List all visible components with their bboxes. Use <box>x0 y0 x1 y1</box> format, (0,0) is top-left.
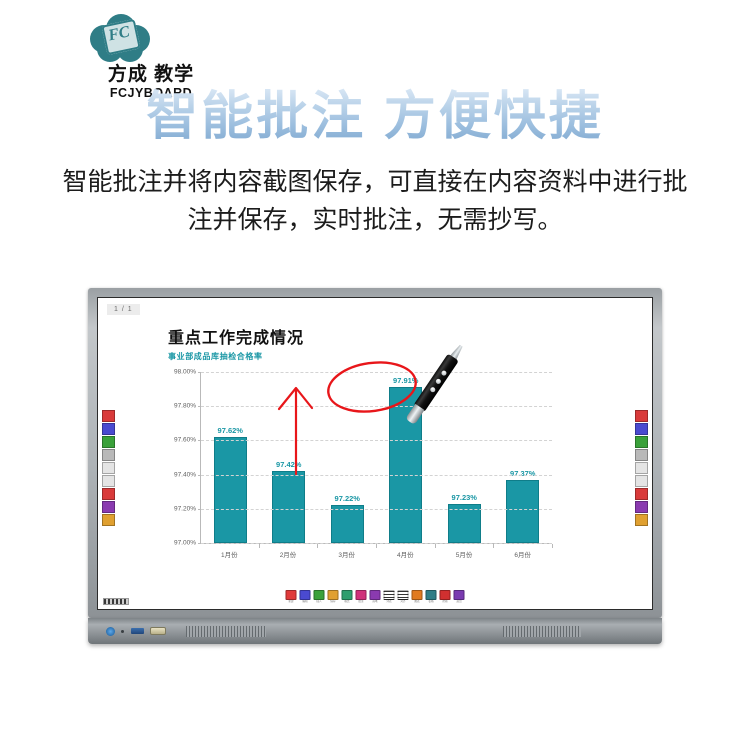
toolbar-button-label: 画笔 <box>370 600 381 604</box>
toolbar-button-label: 表格 <box>426 600 437 604</box>
edit-icon <box>300 590 311 600</box>
power-button-icon[interactable] <box>106 627 115 636</box>
chart-title: 重点工作完成情况 <box>168 324 576 348</box>
chart-x-tickmark <box>376 544 377 548</box>
toolbar-help-button[interactable]: 帮助 <box>440 590 451 604</box>
chart-x-tick-label: 5月份 <box>435 544 494 559</box>
toolbar-button-label: 插入 <box>314 600 325 604</box>
toolbar-button-label: 批注 <box>356 600 367 604</box>
right-tool-rail[interactable] <box>635 410 648 526</box>
pen-tool-icon[interactable] <box>102 410 115 422</box>
interactive-whiteboard: 1 / 1 重点工作完成情况 事业部成品库抽检合格率 97.62%97.42%9… <box>88 288 662 618</box>
toolbar-button-label: 新建 <box>286 600 297 604</box>
chart-x-tickmark <box>493 544 494 548</box>
chart-subtitle: 事业部成品库抽检合格率 <box>168 351 576 362</box>
chart-gridline <box>201 475 552 476</box>
usb-port-icon <box>131 628 144 634</box>
annotate-icon <box>356 590 367 600</box>
new-page-icon <box>286 590 297 600</box>
shapes-tool-icon[interactable] <box>635 501 648 513</box>
chart-bar-value-label: 97.23% <box>452 493 477 502</box>
shapes-tool-icon[interactable] <box>102 501 115 513</box>
chart-bar-group: 97.37% <box>498 372 547 543</box>
chart-y-tick-label: 97.40% <box>174 471 196 478</box>
chart-gridline <box>201 440 552 441</box>
flower-logo-icon: FC <box>90 14 152 62</box>
toolbar-button-label: 保存 <box>328 600 339 604</box>
chart-x-tick-label: 3月份 <box>317 544 376 559</box>
chart-x-tick-label: 2月份 <box>259 544 318 559</box>
pen-tool-icon[interactable] <box>635 410 648 422</box>
chart-bar <box>214 437 247 543</box>
highlighter-tool-icon[interactable] <box>102 423 115 435</box>
redo-tool-icon[interactable] <box>102 475 115 487</box>
toolbar-button-label: 格式 <box>342 600 353 604</box>
logo-mark-text: FC <box>107 23 132 45</box>
chart-x-tickmark <box>552 544 553 548</box>
redo-tool-icon[interactable] <box>635 475 648 487</box>
toolbar-annotate-button[interactable]: 批注 <box>356 590 367 604</box>
save-icon <box>328 590 339 600</box>
chart-x-tick-label: 4月份 <box>376 544 435 559</box>
chart-x-tick-label: 6月份 <box>493 544 552 559</box>
color-picker-tool-icon[interactable] <box>102 436 115 448</box>
chart-gridline <box>201 372 552 373</box>
toolbar-new-page-button[interactable]: 新建 <box>286 590 297 604</box>
table-icon <box>426 590 437 600</box>
toolbar-button-label: 帮助 <box>440 600 451 604</box>
toolbar-button-label: 编辑 <box>300 600 311 604</box>
left-tool-rail[interactable] <box>102 410 115 526</box>
toolbar-table-button[interactable]: 表格 <box>426 590 437 604</box>
chart-x-tickmark <box>435 544 436 548</box>
toolbar-button-label: 退出 <box>454 600 465 604</box>
speaker-grille-right <box>503 626 581 637</box>
hdmi-port-icon <box>150 627 166 635</box>
exit-icon <box>454 590 465 600</box>
brand-name-cn: 方成 教学 <box>76 64 226 86</box>
chart-plot-area: 97.62%97.42%97.22%97.91%97.23%97.37% 98.… <box>200 372 552 544</box>
chart-x-tick-label: 1月份 <box>200 544 259 559</box>
toolbar-format-button[interactable]: 格式 <box>342 590 353 604</box>
chart-bar-group: 97.62% <box>206 372 255 543</box>
undo-tool-icon[interactable] <box>635 462 648 474</box>
chart-y-tick-label: 98.00% <box>174 369 196 376</box>
toolbar-edit-button[interactable]: 编辑 <box>300 590 311 604</box>
chart-x-axis: 1月份2月份3月份4月份5月份6月份 <box>200 544 552 559</box>
eraser-tool-icon[interactable] <box>102 449 115 461</box>
chart-bar <box>506 480 539 543</box>
display-base <box>88 618 662 644</box>
page-description: 智能批注并将内容截图保存，可直接在内容资料中进行批注并保存，实时批注，无需抄写。 <box>55 163 695 239</box>
chart-bars: 97.62%97.42%97.22%97.91%97.23%97.37% <box>201 372 552 543</box>
toolbar-save-button[interactable]: 保存 <box>328 590 339 604</box>
toolbar-brush-button[interactable]: 画笔 <box>370 590 381 604</box>
chart-y-tickmark <box>198 509 201 510</box>
speaker-grille-left <box>186 626 266 637</box>
undo-tool-icon[interactable] <box>102 462 115 474</box>
line-list-icon <box>384 590 395 600</box>
chart-x-tickmark <box>259 544 260 548</box>
insert-icon <box>314 590 325 600</box>
slide-chart: 重点工作完成情况 事业部成品库抽检合格率 97.62%97.42%97.22%9… <box>156 324 576 574</box>
chart-bar-value-label: 97.37% <box>510 469 535 478</box>
chart-gridline <box>201 509 552 510</box>
delete-tool-icon[interactable] <box>635 488 648 500</box>
chart-y-tickmark <box>198 475 201 476</box>
align-icon <box>398 590 409 600</box>
format-icon <box>342 590 353 600</box>
toolbar-button-label: 图表 <box>412 600 423 604</box>
toolbar-insert-button[interactable]: 插入 <box>314 590 325 604</box>
chart-bar-value-label: 97.42% <box>276 460 301 469</box>
toolbar-exit-button[interactable]: 退出 <box>454 590 465 604</box>
chart-y-tickmark <box>198 372 201 373</box>
chart-x-tickmark <box>317 544 318 548</box>
chart-bar-group: 97.42% <box>264 372 313 543</box>
chart-y-tick-label: 97.80% <box>174 403 196 410</box>
toolbar-line-list-button[interactable]: 列表 <box>384 590 395 604</box>
toolbar-align-button[interactable]: 对齐 <box>398 590 409 604</box>
toolbar-button-label: 列表 <box>384 600 395 604</box>
page-indicator: 1 / 1 <box>107 304 140 315</box>
chart-bar-value-label: 97.62% <box>218 426 243 435</box>
status-led-icon <box>121 630 124 633</box>
display-screen[interactable]: 1 / 1 重点工作完成情况 事业部成品库抽检合格率 97.62%97.42%9… <box>97 297 653 610</box>
page-title: 智能批注 方便快捷 <box>0 86 750 148</box>
delete-tool-icon[interactable] <box>102 488 115 500</box>
save-tool-icon[interactable] <box>102 514 115 526</box>
chart-y-tickmark <box>198 406 201 407</box>
chart-gridline <box>201 406 552 407</box>
screen-status-chip <box>103 598 129 605</box>
chart-y-tick-label: 97.00% <box>174 540 196 547</box>
chart-icon <box>412 590 423 600</box>
chart-y-tickmark <box>198 440 201 441</box>
chart-bar <box>272 471 305 543</box>
color-picker-tool-icon[interactable] <box>635 436 648 448</box>
highlighter-tool-icon[interactable] <box>635 423 648 435</box>
chart-bar-group: 97.23% <box>440 372 489 543</box>
chart-bar-value-label: 97.22% <box>335 494 360 503</box>
eraser-tool-icon[interactable] <box>635 449 648 461</box>
chart-bar <box>331 505 364 543</box>
chart-bar-group: 97.22% <box>323 372 372 543</box>
chart-y-tick-label: 97.20% <box>174 505 196 512</box>
help-icon <box>440 590 451 600</box>
toolbar-chart-button[interactable]: 图表 <box>412 590 423 604</box>
chart-bar-value-label: 97.91% <box>393 376 418 385</box>
toolbar-button-label: 对齐 <box>398 600 409 604</box>
save-tool-icon[interactable] <box>635 514 648 526</box>
brand-logo: FC 方成 教学 FCJYBOARD <box>76 14 226 92</box>
brush-icon <box>370 590 381 600</box>
chart-y-tick-label: 97.60% <box>174 437 196 444</box>
slide-toolbar[interactable]: 新建编辑插入保存格式批注画笔列表对齐图表表格帮助退出 <box>286 590 465 604</box>
